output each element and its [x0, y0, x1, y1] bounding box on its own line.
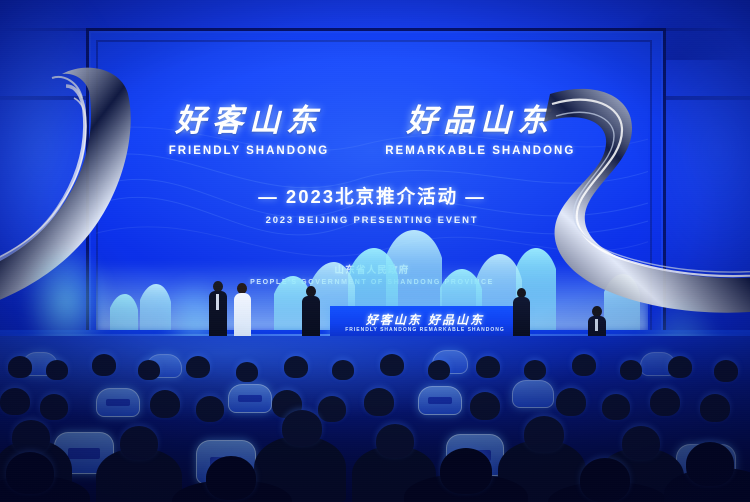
podium-banner-en: FRIENDLY SHANDONG REMARKABLE SHANDONG [330, 327, 520, 333]
audience-head [282, 410, 322, 446]
audience-head [470, 392, 500, 420]
chair-tag [106, 399, 130, 406]
audience-head [206, 456, 256, 500]
audience-head [92, 354, 116, 376]
audience-head [6, 452, 54, 494]
audience-head [440, 448, 492, 494]
audience-head [46, 360, 68, 380]
audience-head [8, 356, 32, 378]
ribbon-right-decor [520, 66, 750, 336]
chair-tag [238, 395, 262, 402]
audience-head [236, 362, 258, 382]
audience-head [120, 426, 158, 460]
audience-head [0, 388, 30, 415]
event-stage-photo: 好客山东 FRIENDLY SHANDONG 好品山东 REMARKABLE S… [0, 0, 750, 502]
audience-head [284, 356, 308, 378]
audience-head [556, 388, 586, 416]
audience-head [686, 442, 734, 486]
audience-head [196, 396, 224, 422]
audience-head [572, 354, 596, 376]
ribbon-left-decor [0, 70, 240, 330]
chair-tag [68, 448, 100, 458]
audience-head [668, 356, 692, 378]
audience-head [12, 420, 50, 454]
host-female [231, 283, 253, 343]
audience-head [332, 360, 354, 380]
audience-head [380, 354, 404, 376]
audience-head [186, 356, 210, 378]
audience-head [40, 394, 68, 420]
audience-head [622, 426, 660, 460]
audience-head [700, 394, 730, 422]
host-male [207, 281, 229, 343]
chair-tag [428, 397, 452, 404]
chair [418, 386, 462, 415]
audience-head [376, 424, 414, 458]
attendee-center [300, 286, 322, 342]
audience-head [428, 360, 450, 380]
audience-head [714, 360, 738, 382]
chair [96, 388, 140, 417]
audience-head [524, 360, 546, 380]
podium-led-banner: 好客山东 好品山东 FRIENDLY SHANDONG REMARKABLE S… [330, 306, 520, 340]
chair [228, 384, 272, 413]
audience-head [524, 416, 564, 452]
audience-head [150, 390, 180, 418]
podium-banner-cn: 好客山东 好品山东 [330, 311, 520, 328]
chair [512, 380, 554, 408]
audience-head [580, 458, 630, 502]
audience-head [650, 388, 680, 416]
audience-area [0, 336, 750, 502]
audience-head [620, 360, 642, 380]
attendee-midright [512, 288, 532, 338]
audience-head [602, 394, 630, 420]
audience-head [476, 356, 500, 378]
audience-head [318, 396, 346, 422]
audience-head [138, 360, 160, 380]
audience-head [364, 388, 394, 416]
